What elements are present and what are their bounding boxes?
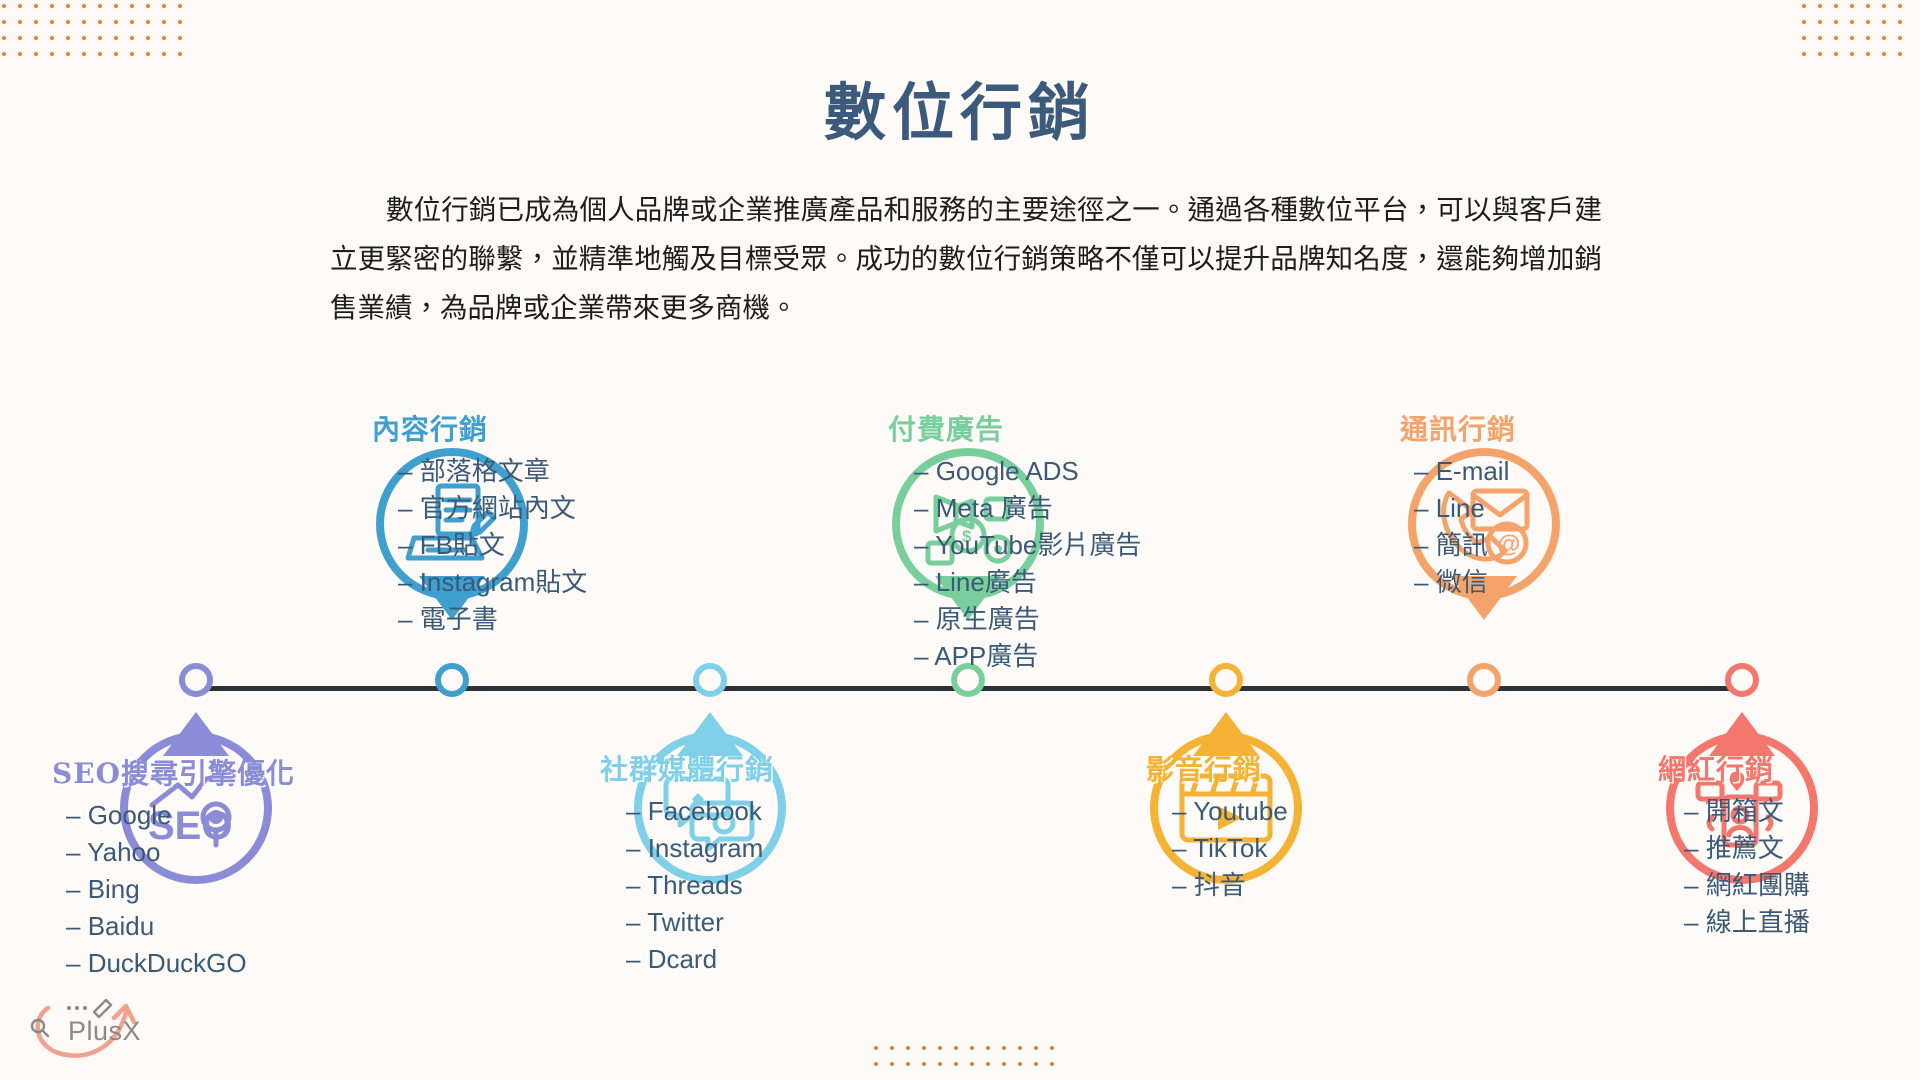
bullet-list-messaging: E-mailLine簡訊微信: [1400, 453, 1516, 601]
timeline-node-messaging[interactable]: [1467, 663, 1501, 697]
intro-paragraph: 數位行銷已成為個人品牌或企業推廣產品和服務的主要途徑之一。通過各種數位平台，可以…: [330, 186, 1602, 333]
bullet-item: Facebook: [626, 793, 774, 830]
decorative-dot-grid-top-right: [1796, 0, 1906, 60]
timeline-node-content[interactable]: [435, 663, 469, 697]
bullet-item: Baidu: [66, 908, 295, 945]
bullet-list-seo: GoogleYahooBingBaiduDuckDuckGO: [52, 797, 295, 982]
label-block-social: 社群媒體行銷FacebookInstagramThreadsTwitterDca…: [600, 748, 774, 978]
bullet-item: Instagram貼文: [398, 564, 587, 601]
bullet-item: Bing: [66, 871, 295, 908]
label-block-seo: SEO搜尋引擎優化GoogleYahooBingBaiduDuckDuckGO: [52, 752, 295, 982]
bullet-item: Threads: [626, 867, 774, 904]
bullet-list-paid-ads: Google ADSMeta 廣告YouTube影片廣告Line廣告原生廣告AP…: [888, 453, 1141, 675]
bullet-item: 網紅團購: [1684, 867, 1810, 904]
label-block-influencer: 網紅行銷開箱文推薦文網紅團購線上直播: [1658, 748, 1810, 941]
timeline-node-video[interactable]: [1209, 663, 1243, 697]
bullet-item: Yahoo: [66, 834, 295, 871]
label-heading-influencer: 網紅行銷: [1658, 748, 1810, 788]
bullet-item: APP廣告: [914, 638, 1141, 675]
timeline-node-seo[interactable]: [179, 663, 213, 697]
label-heading-video: 影音行銷: [1146, 748, 1288, 788]
label-block-messaging: 通訊行銷E-mailLine簡訊微信: [1400, 408, 1516, 601]
bullet-item: 電子書: [398, 601, 587, 638]
bullet-item: YouTube影片廣告: [914, 527, 1141, 564]
bullet-item: DuckDuckGO: [66, 945, 295, 982]
label-block-content: 內容行銷部落格文章官方網站內文FB貼文Instagram貼文電子書: [372, 408, 587, 638]
bullet-item: 原生廣告: [914, 601, 1141, 638]
bullet-list-influencer: 開箱文推薦文網紅團購線上直播: [1658, 793, 1810, 941]
bullet-list-content: 部落格文章官方網站內文FB貼文Instagram貼文電子書: [372, 453, 587, 638]
bullet-item: 抖音: [1172, 867, 1288, 904]
timeline-node-social[interactable]: [693, 663, 727, 697]
timeline-node-influencer[interactable]: [1725, 663, 1759, 697]
bullet-item: Line廣告: [914, 564, 1141, 601]
bullet-item: 微信: [1414, 564, 1516, 601]
bullet-list-video: YoutubeTikTok抖音: [1146, 793, 1288, 904]
bullet-item: FB貼文: [398, 527, 587, 564]
plusx-watermark-logo: PlusX: [22, 992, 154, 1066]
label-heading-content: 內容行銷: [372, 408, 587, 448]
plusx-wordmark: PlusX: [68, 1016, 141, 1047]
label-heading-messaging: 通訊行銷: [1400, 408, 1516, 448]
label-heading-social: 社群媒體行銷: [600, 748, 774, 788]
bullet-item: Youtube: [1172, 793, 1288, 830]
bullet-item: Google: [66, 797, 295, 834]
bullet-item: Line: [1414, 490, 1516, 527]
infographic-canvas: 數位行銷 數位行銷已成為個人品牌或企業推廣產品和服務的主要途徑之一。通過各種數位…: [0, 0, 1920, 1080]
bullet-item: 開箱文: [1684, 793, 1810, 830]
bullet-item: 部落格文章: [398, 453, 587, 490]
label-block-video: 影音行銷YoutubeTikTok抖音: [1146, 748, 1288, 904]
bullet-item: E-mail: [1414, 453, 1516, 490]
bullet-item: 簡訊: [1414, 527, 1516, 564]
bullet-list-social: FacebookInstagramThreadsTwitterDcard: [600, 793, 774, 978]
bullet-item: Google ADS: [914, 453, 1141, 490]
bullet-item: 推薦文: [1684, 830, 1810, 867]
label-heading-seo: SEO搜尋引擎優化: [52, 752, 295, 792]
bullet-item: 線上直播: [1684, 904, 1810, 941]
bullet-item: Dcard: [626, 941, 774, 978]
label-block-paid-ads: 付費廣告Google ADSMeta 廣告YouTube影片廣告Line廣告原生…: [888, 408, 1141, 675]
bullet-item: 官方網站內文: [398, 490, 587, 527]
label-heading-paid-ads: 付費廣告: [888, 408, 1141, 448]
pin-tail: [163, 712, 229, 756]
bullet-item: TikTok: [1172, 830, 1288, 867]
decorative-dot-grid-top-left: [0, 0, 182, 60]
bullet-item: Instagram: [626, 830, 774, 867]
decorative-dot-grid-bottom: [868, 1040, 1064, 1078]
page-title: 數位行銷: [0, 62, 1920, 152]
bullet-item: Meta 廣告: [914, 490, 1141, 527]
bullet-item: Twitter: [626, 904, 774, 941]
